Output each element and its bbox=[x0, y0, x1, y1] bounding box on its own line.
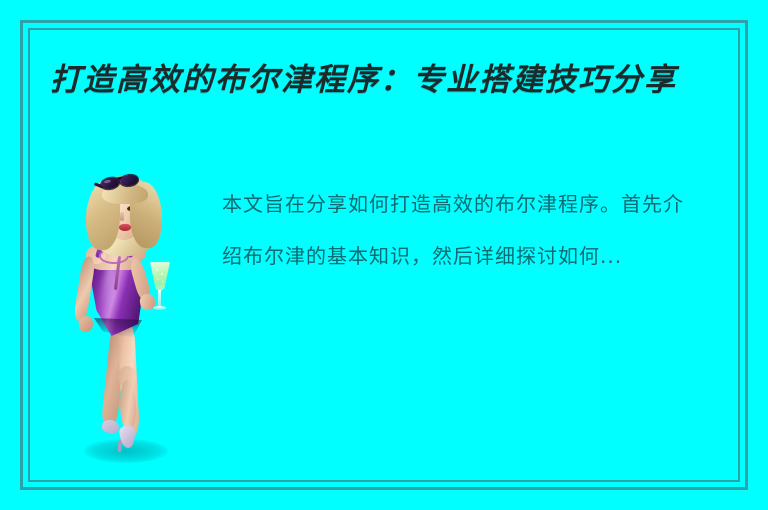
figure-nose bbox=[120, 212, 124, 221]
figure-back-shoe bbox=[101, 419, 120, 435]
article-title: 打造高效的布尔津程序：专业搭建技巧分享 bbox=[50, 57, 750, 103]
champagne-glass-foot bbox=[153, 306, 166, 310]
article-summary-text: 本文旨在分享如何打造高效的布尔津程序。首先介绍布尔津的基本知识，然后详细探讨如何… bbox=[222, 178, 698, 282]
illustration-woman-with-champagne bbox=[58, 170, 198, 480]
figure-lips bbox=[119, 224, 131, 231]
champagne-bubbles bbox=[154, 267, 166, 285]
article-summary-area: 本文旨在分享如何打造高效的布尔津程序。首先介绍布尔津的基本知识，然后详细探讨如何… bbox=[222, 178, 722, 282]
article-preview-card: 打造高效的布尔津程序：专业搭建技巧分享 bbox=[0, 0, 768, 510]
